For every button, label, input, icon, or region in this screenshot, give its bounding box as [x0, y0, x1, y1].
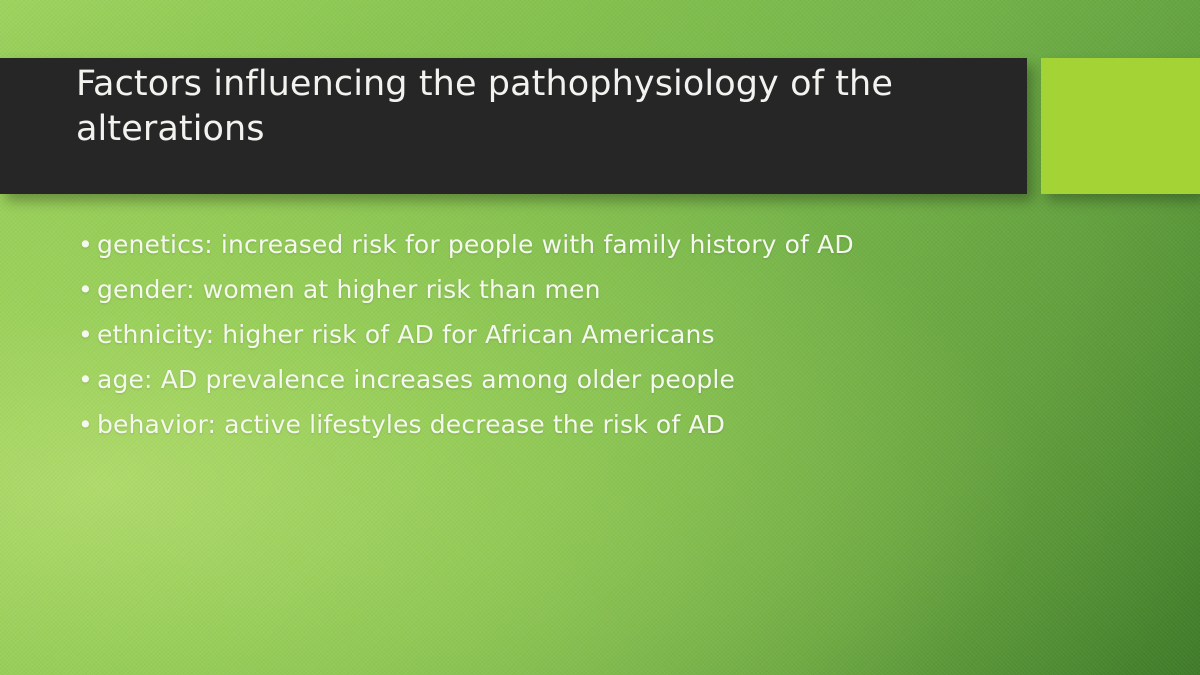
bullet-point-icon: • [78, 273, 92, 307]
list-item-label: age: AD prevalence increases among older… [97, 365, 735, 394]
list-item-label: genetics: increased risk for people with… [97, 230, 854, 259]
list-item-label: behavior: active lifestyles decrease the… [97, 410, 725, 439]
presentation-slide: Factors influencing the pathophysiology … [0, 0, 1200, 675]
bullet-point-icon: • [78, 408, 92, 442]
list-item: • genetics: increased risk for people wi… [70, 228, 1140, 262]
bullet-point-icon: • [78, 318, 92, 352]
list-item: • gender: women at higher risk than men [70, 273, 1140, 307]
list-item: • behavior: active lifestyles decrease t… [70, 408, 1140, 442]
list-item: • age: AD prevalence increases among old… [70, 363, 1140, 397]
list-item-label: gender: women at higher risk than men [97, 275, 601, 304]
bullet-point-icon: • [78, 363, 92, 397]
bullet-list: • genetics: increased risk for people wi… [70, 228, 1140, 453]
page-title: Factors influencing the pathophysiology … [76, 62, 987, 152]
list-item-label: ethnicity: higher risk of AD for African… [97, 320, 715, 349]
accent-color-block [1041, 58, 1200, 194]
list-item: • ethnicity: higher risk of AD for Afric… [70, 318, 1140, 352]
slide-title-bar: Factors influencing the pathophysiology … [0, 58, 1027, 194]
bullet-point-icon: • [78, 228, 92, 262]
